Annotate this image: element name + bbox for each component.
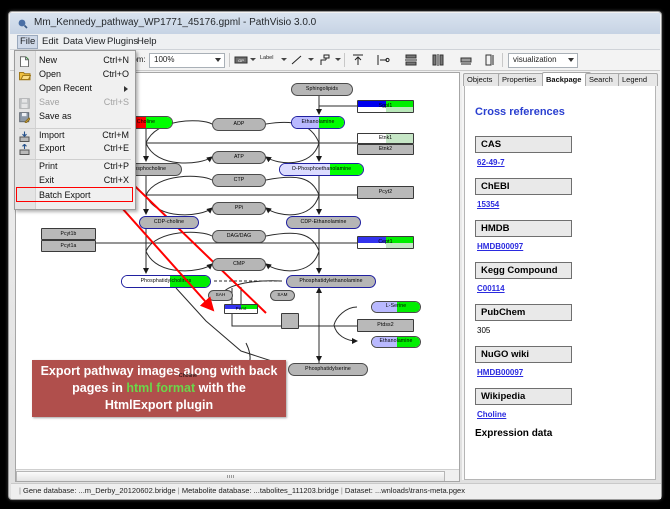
node-cmp[interactable]: CMP [212, 258, 266, 271]
menu-save-label: Save [39, 97, 60, 107]
db-value-nugo-wiki[interactable]: HMDB00097 [477, 368, 523, 377]
svg-text:GP: GP [238, 58, 244, 63]
export-icon [19, 144, 30, 155]
gene-product-icon[interactable]: GP [234, 53, 248, 67]
floppy-disk-pencil-icon [19, 112, 30, 123]
menu-print-shortcut: Ctrl+P [104, 161, 129, 171]
node-phosphatidylethanolamine[interactable]: Phosphatidylethanolamine [286, 275, 376, 288]
node-sam[interactable]: SAM [270, 290, 295, 301]
db-label-nugo-wiki: NuGO wiki [475, 346, 572, 363]
label-icon[interactable]: Label [260, 55, 273, 61]
status-bar-text: | Gene database: ...m_Derby_20120602.bri… [19, 486, 465, 495]
floppy-disk-icon [19, 98, 30, 109]
gene-pcyt1b[interactable]: Pcyt1b [41, 228, 96, 240]
node-sphingolipids[interactable]: Sphingolipids [291, 83, 353, 96]
tab-backpage[interactable]: Backpage [542, 72, 591, 87]
menu-open-label[interactable]: Open [39, 69, 61, 79]
db-label-kegg-compound: Kegg Compound [475, 262, 572, 279]
gene-sgpl1[interactable]: Sgpl1 [357, 100, 414, 113]
annotation-line2-post: with the [195, 381, 246, 395]
node-ethanolamine-top[interactable]: Ethanolamine [291, 116, 345, 129]
node-atp[interactable]: ATP [212, 151, 266, 164]
menu-import-shortcut: Ctrl+M [102, 130, 129, 140]
status-dataset-value: ...wnloads\trans-meta.pgex [375, 486, 465, 495]
annotation-line2: pages in html format with the [72, 380, 246, 397]
status-dataset-label: Dataset: [345, 486, 373, 495]
distribute-vertical-icon[interactable] [404, 53, 418, 67]
annotation-highlight: html format [126, 381, 195, 395]
db-label-pubchem: PubChem [475, 304, 572, 321]
menu-new-shortcut: Ctrl+N [103, 55, 129, 65]
gene-pcyt2[interactable]: Pcyt2 [357, 186, 414, 199]
db-label-hmdb: HMDB [475, 220, 572, 237]
menu-help[interactable]: Help [134, 36, 160, 48]
status-gene-db-label: Gene database: [23, 486, 76, 495]
node-cdp-choline[interactable]: CDP-choline [139, 216, 199, 229]
annotation-line1: Export pathway images along with back [41, 363, 278, 380]
canvas-hscrollbar[interactable] [16, 469, 459, 481]
menu-batch-export[interactable]: Batch Export [16, 187, 133, 202]
tab-properties[interactable]: Properties [498, 73, 548, 86]
visualization-combo[interactable]: visualization [508, 53, 578, 68]
menu-open-recent-label[interactable]: Open Recent [39, 83, 92, 93]
node-l-serine[interactable]: L-Serine [371, 301, 421, 313]
cross-references-heading: Cross references [475, 106, 565, 118]
node-sah[interactable]: SAH [208, 290, 233, 301]
menu-import-label[interactable]: Import [39, 130, 65, 140]
db-value-cas[interactable]: 62-49-7 [477, 158, 505, 167]
distribute-horizontal-icon[interactable] [431, 53, 445, 67]
annotation-line2-pre: pages in [72, 381, 126, 395]
file-menu-dropdown[interactable]: New Ctrl+N Open Ctrl+O Open Recent Save … [14, 50, 136, 210]
menu-edit[interactable]: Edit [39, 36, 61, 48]
submenu-arrow-icon [124, 86, 128, 92]
db-label-cas: CAS [475, 136, 572, 153]
menu-exit-shortcut: Ctrl+X [104, 175, 129, 185]
interaction-icon[interactable] [318, 53, 332, 67]
node-phosphatidylcholines[interactable]: Phosphatidylcholines [121, 275, 211, 288]
line-icon[interactable] [290, 53, 304, 67]
node-phosphatidylserine[interactable]: Phosphatidylserine [288, 363, 368, 376]
folder-open-icon [19, 70, 31, 81]
window-title: Mm_Kennedy_pathway_WP1771_45176.gpml - P… [34, 17, 316, 28]
side-panel-tabs: Objects Properties Backpage Search Legen… [462, 72, 656, 86]
title-bar: Mm_Kennedy_pathway_WP1771_45176.gpml - P… [10, 13, 660, 34]
menu-bar: File Edit Data View Plugins Help [10, 34, 660, 50]
gene-cept1[interactable]: Cept1 [357, 236, 414, 249]
status-gene-db-value: ...m_Derby_20120602.bridge [79, 486, 176, 495]
zoom-value: 100% [154, 55, 174, 64]
application-window: Mm_Kennedy_pathway_WP1771_45176.gpml - P… [8, 11, 662, 500]
menu-export-shortcut: Ctrl+E [104, 143, 129, 153]
gene-etnk2[interactable]: Etnk2 [357, 144, 414, 155]
expression-data-heading: Expression data [475, 428, 552, 439]
menu-new-label[interactable]: New [39, 55, 57, 65]
db-value-hmdb[interactable]: HMDB00097 [477, 242, 523, 251]
menu-file[interactable]: File [17, 35, 38, 49]
status-metabolite-db-value: ...tabolites_111203.bridge [254, 486, 339, 495]
db-value-pubchem: 305 [477, 326, 490, 335]
annotation-callout: Export pathway images along with back pa… [32, 360, 286, 417]
canvas-hscroll-thumb[interactable] [16, 471, 445, 482]
side-panel: Objects Properties Backpage Search Legen… [462, 72, 656, 480]
app-icon [17, 18, 28, 29]
new-document-icon [19, 56, 30, 67]
gene-pcyt1a[interactable]: Pcyt1a [41, 240, 96, 252]
align-top-icon[interactable] [351, 53, 365, 67]
node-dag[interactable]: DAG/DAG [212, 230, 266, 243]
menu-exit-label[interactable]: Exit [39, 175, 54, 185]
db-label-chebi: ChEBI [475, 178, 572, 195]
same-width-icon[interactable] [459, 53, 473, 67]
gene-pemt[interactable]: Pemt [224, 304, 258, 314]
status-bar: | Gene database: ...m_Derby_20120602.bri… [11, 483, 661, 499]
node-adp[interactable]: ADP [212, 118, 266, 131]
gene-ptdss2[interactable]: Ptdss2 [357, 319, 414, 332]
annotation-line3: HtmlExport plugin [105, 397, 213, 414]
gene-unlabeled-box[interactable] [281, 313, 299, 329]
menu-batch-export-label: Batch Export [39, 190, 91, 200]
zoom-combo[interactable]: 100% [149, 53, 225, 68]
status-metabolite-db-label: Metabolite database: [182, 486, 252, 495]
same-height-icon[interactable] [482, 53, 496, 67]
menu-print-label[interactable]: Print [39, 161, 58, 171]
import-icon [19, 131, 30, 142]
db-value-chebi[interactable]: 15354 [477, 200, 499, 209]
menu-open-shortcut: Ctrl+O [103, 69, 129, 79]
node-ethanolamine-bottom[interactable]: Ethanolamine [371, 336, 421, 348]
menu-save-shortcut: Ctrl+S [104, 97, 129, 107]
menu-save-as-label[interactable]: Save as [39, 111, 72, 121]
db-label-wikipedia: Wikipedia [475, 388, 572, 405]
visualization-value: visualization [513, 55, 557, 64]
node-ppi[interactable]: PPi [212, 202, 266, 215]
screenshot-root: Mm_Kennedy_pathway_WP1771_45176.gpml - P… [0, 0, 670, 509]
node-cdp-ethanolamine[interactable]: CDP-Ethanolamine [286, 216, 361, 229]
node-o-phosphoethanolamine[interactable]: O-Phosphoethanolamine [279, 163, 364, 176]
gene-etnk1[interactable]: Etnk1 [357, 133, 414, 144]
db-value-wikipedia[interactable]: Choline [477, 410, 506, 419]
db-value-kegg-compound[interactable]: C00114 [477, 284, 505, 293]
menu-export-label[interactable]: Export [39, 143, 65, 153]
align-left-icon[interactable] [376, 53, 390, 67]
backpage-content: Cross references CAS 62-49-7 ChEBI 15354… [464, 86, 656, 480]
node-ctp[interactable]: CTP [212, 174, 266, 187]
tab-legend[interactable]: Legend [618, 73, 658, 86]
